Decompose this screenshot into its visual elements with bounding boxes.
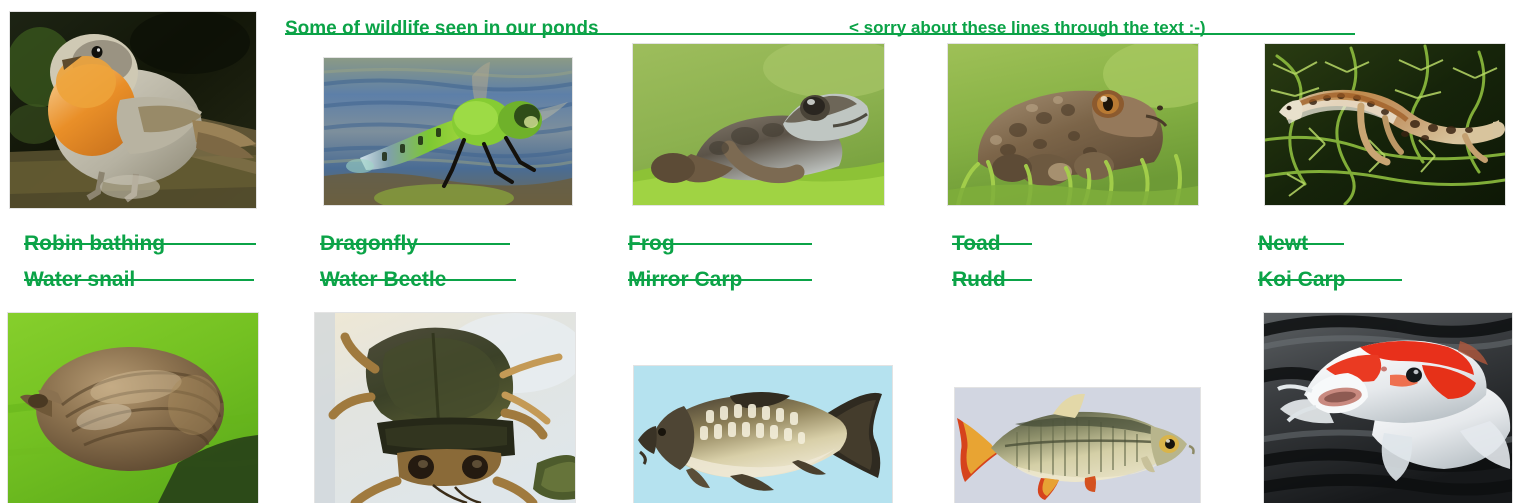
caption-row: Mirror Carp xyxy=(628,262,742,298)
mirror-carp-photo-art xyxy=(634,366,892,503)
caption-row: Toad xyxy=(952,226,1006,262)
caption-strike-line xyxy=(320,279,516,281)
caption-row: Frog xyxy=(628,226,742,262)
dragonfly-photo-art xyxy=(324,58,572,205)
caption-strike-line xyxy=(628,279,812,281)
caption-row: Koi Carp xyxy=(1258,262,1346,298)
caption-strike-line xyxy=(1258,243,1344,245)
robin-photo[interactable] xyxy=(10,12,256,208)
pond-wildlife-page: Some of wildlife seen in our ponds < sor… xyxy=(0,0,1515,503)
frog-photo[interactable] xyxy=(633,44,884,205)
robin-photo-art xyxy=(10,12,256,208)
rudd-photo-art xyxy=(955,388,1200,503)
caption-strike-line xyxy=(24,243,256,245)
caption-row: Water Beetle xyxy=(320,262,446,298)
caption-strike-line xyxy=(320,243,510,245)
newt-photo[interactable] xyxy=(1265,44,1505,205)
caption-strike-line xyxy=(24,279,254,281)
caption-block-4: Toad Rudd xyxy=(952,226,1006,298)
water-snail-photo[interactable] xyxy=(8,313,258,503)
caption-block-2: Dragonfly Water Beetle xyxy=(320,226,446,298)
water-beetle-photo[interactable] xyxy=(315,313,575,503)
caption-block-5: Newt Koi Carp xyxy=(1258,226,1346,298)
caption-strike-line xyxy=(1258,279,1402,281)
toad-photo[interactable] xyxy=(948,44,1198,205)
toad-photo-art xyxy=(948,44,1198,205)
newt-photo-art xyxy=(1265,44,1505,205)
koi-carp-photo[interactable] xyxy=(1264,313,1512,503)
frog-photo-art xyxy=(633,44,884,205)
page-title: Some of wildlife seen in our ponds xyxy=(285,18,599,40)
caption-strike-line xyxy=(628,243,812,245)
dragonfly-photo[interactable] xyxy=(324,58,572,205)
rudd-photo[interactable] xyxy=(955,388,1200,503)
caption-block-3: Frog Mirror Carp xyxy=(628,226,742,298)
caption-strike-line xyxy=(952,243,1032,245)
caption-row: Dragonfly xyxy=(320,226,446,262)
caption-row: Rudd xyxy=(952,262,1006,298)
caption-strike-line xyxy=(952,279,1032,281)
water-beetle-photo-art xyxy=(315,313,575,503)
mirror-carp-photo[interactable] xyxy=(634,366,892,503)
water-snail-photo-art xyxy=(8,313,258,503)
koi-carp-photo-art xyxy=(1264,313,1512,503)
header-note: < sorry about these lines through the te… xyxy=(849,18,1206,38)
caption-row: Newt xyxy=(1258,226,1346,262)
caption-row: Water snail xyxy=(24,262,165,298)
caption-block-1: Robin bathing Water snail xyxy=(24,226,165,298)
caption-row: Robin bathing xyxy=(24,226,165,262)
